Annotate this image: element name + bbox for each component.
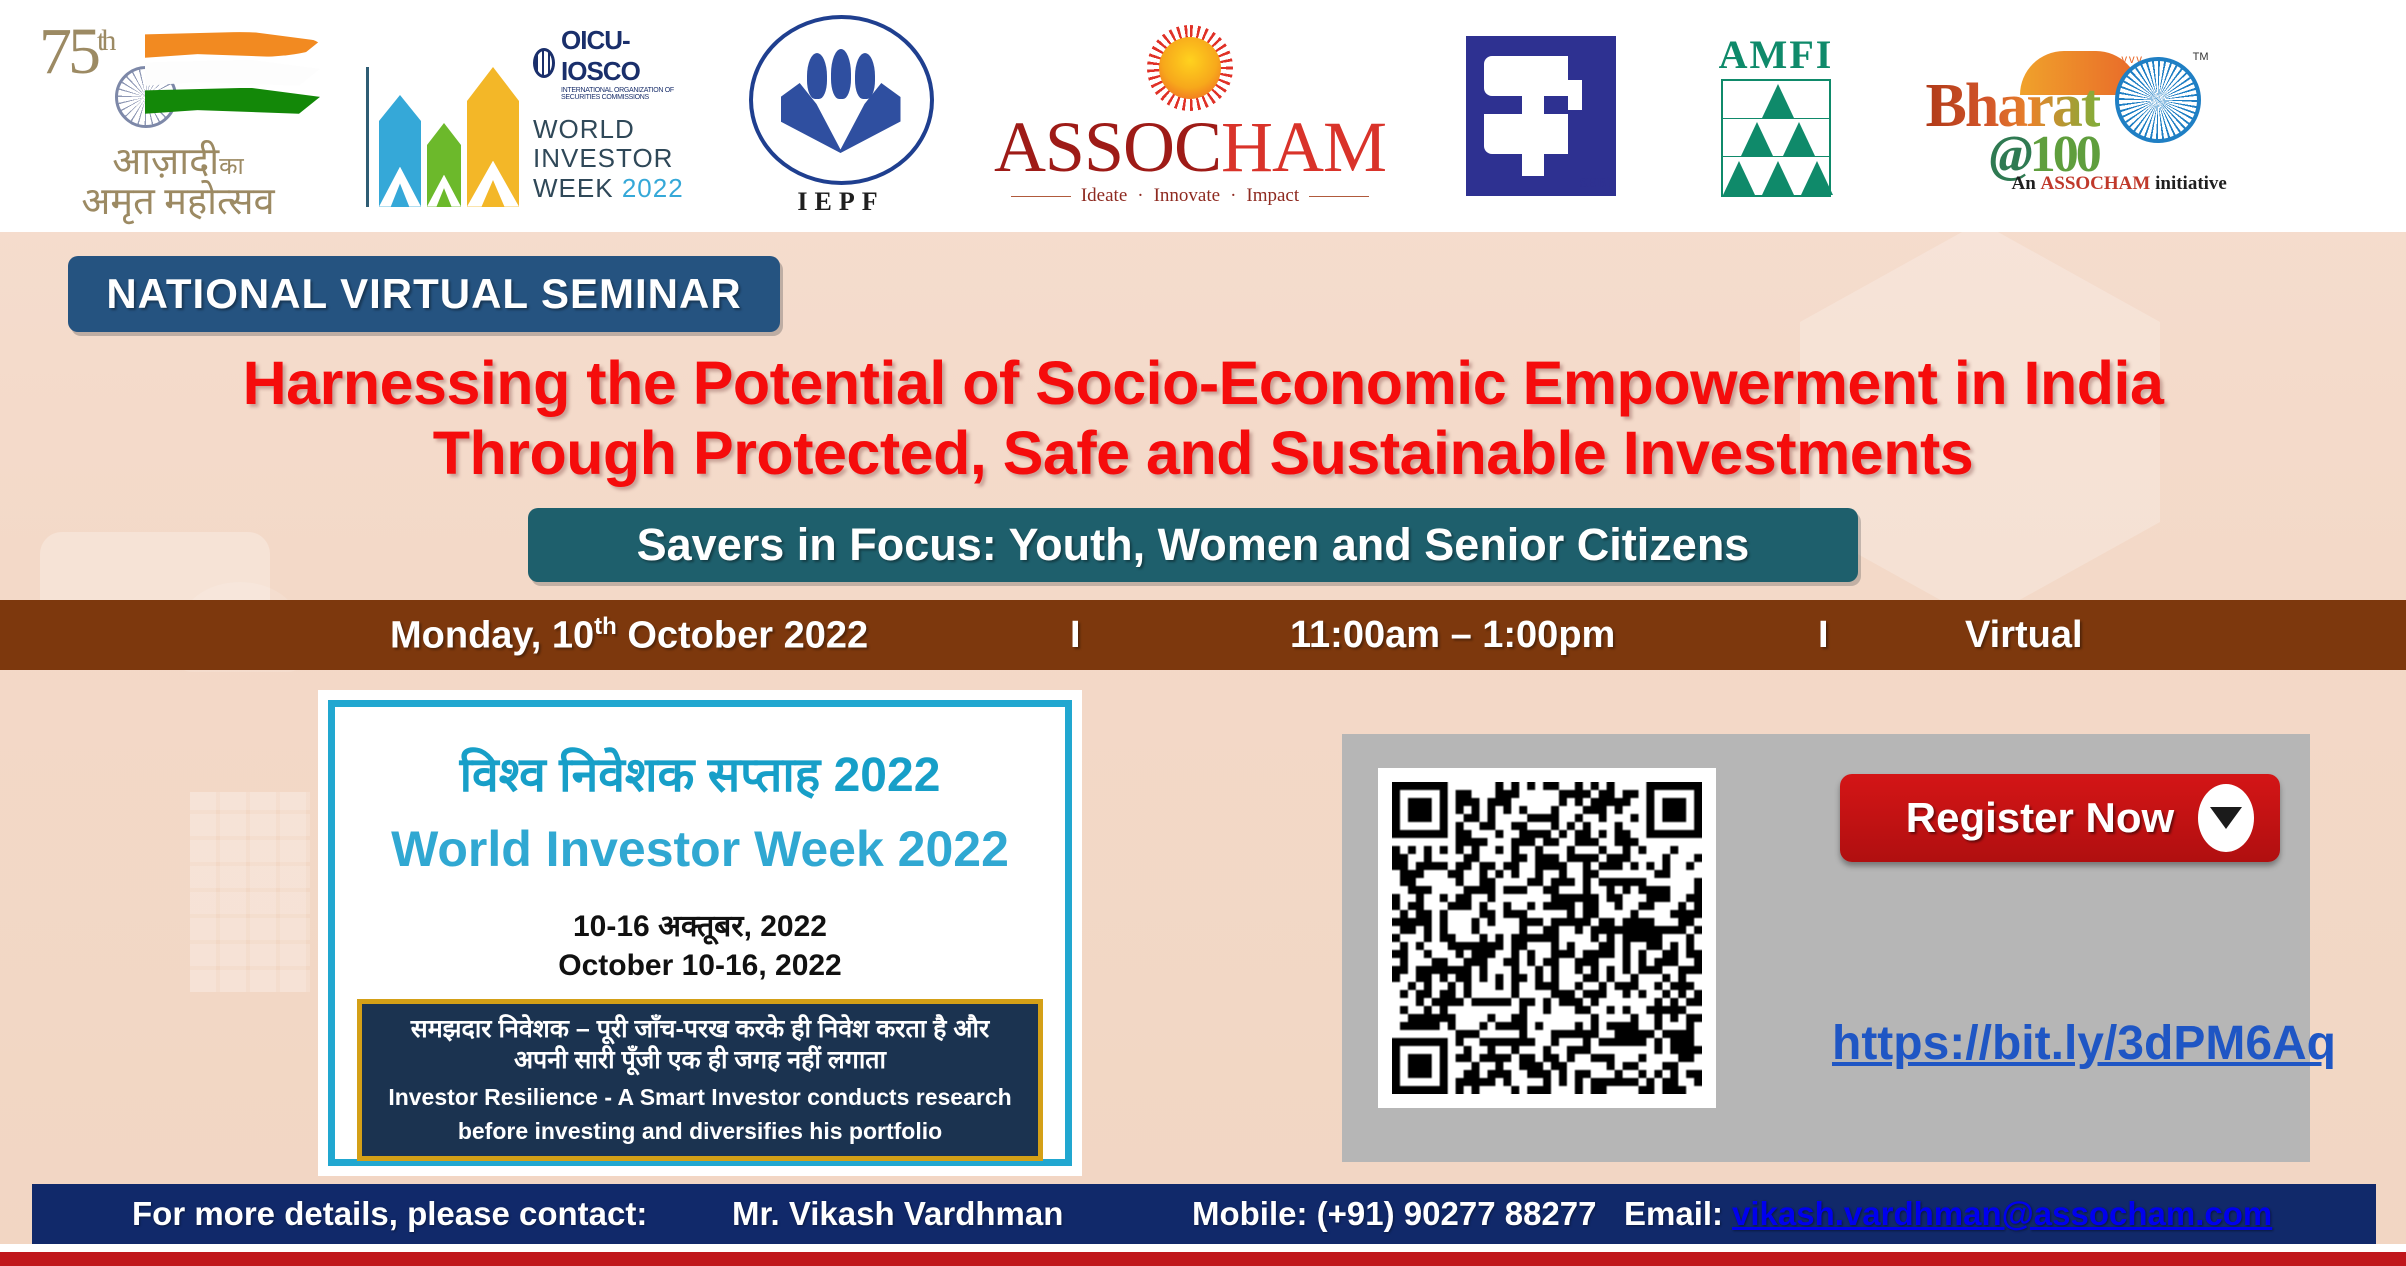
contact-person-name: Mr. Vikash Vardhman: [732, 1195, 1063, 1233]
wiw-wordmark: WORLD INVESTOR WEEK 2022: [533, 115, 696, 202]
tricolour-flag: [93, 24, 323, 144]
assocham-wordmark: ASSOCHAM: [994, 113, 1386, 181]
azadi-line1: आज़ादी: [112, 141, 219, 183]
people-icon: [807, 49, 875, 103]
azadi-line2: अमृत महोत्सव: [33, 182, 323, 222]
trademark-symbol: TM: [2193, 51, 2209, 63]
iepf-seal-icon: [749, 15, 934, 185]
wiw-line3: WEEK: [533, 173, 614, 203]
registration-panel: Register Now https://bit.ly/3dPM6Aq: [1342, 734, 2310, 1162]
seminar-type-badge: NATIONAL VIRTUAL SEMINAR: [68, 256, 780, 332]
initiative-brand: ASSOCHAM: [2041, 173, 2151, 194]
assocham-wordmark-b: HAM: [1221, 107, 1386, 187]
wiw-panel-title-hindi: विश्व निवेशक सप्ताह 2022: [460, 741, 941, 806]
globe-icon: [533, 48, 555, 78]
amfi-triangles-icon: [1721, 79, 1831, 197]
subtitle-bar: Savers in Focus: Youth, Women and Senior…: [528, 508, 1858, 582]
contact-email-label: Email:: [1624, 1195, 1723, 1233]
logo-azadi-ka-amrit-mahotsav: 75th आज़ादीका अमृत महोत्सव: [28, 16, 328, 216]
ashoka-chakra-blue-icon: [2115, 57, 2201, 143]
subtitle-text: Savers in Focus: Youth, Women and Senior…: [637, 519, 1750, 571]
numeral-value: 75: [39, 15, 97, 88]
logo-bharat-at-100: ᵥᵥᵥ Bharat @100 TM An ASSOCHAM initiativ…: [1916, 16, 2216, 216]
contact-footer: For more details, please contact: Mr. Vi…: [32, 1184, 2376, 1244]
wiw-line2: INVESTOR: [533, 144, 696, 173]
tagline-3: Impact: [1246, 185, 1299, 207]
sebi-letters: SEBi: [1580, 176, 1610, 192]
wiw-panel-dates-hindi: 10-16 अक्तूबर, 2022: [573, 904, 827, 945]
page-title: Harnessing the Potential of Socio-Econom…: [0, 348, 2406, 488]
oicu-iosco-mark: OICU-IOSCO INTERNATIONAL ORGANIZATION OF…: [533, 25, 696, 101]
tagline-1: Ideate: [1081, 185, 1127, 207]
azadi-line1-small: का: [219, 154, 244, 180]
qr-code-canvas[interactable]: [1392, 782, 1702, 1094]
qr-code[interactable]: [1378, 768, 1716, 1108]
event-date-prefix: Monday, 10: [390, 614, 594, 656]
logo-assocham: ASSOCHAM Ideate· Innovate· Impact: [990, 16, 1390, 216]
wiw-panel-title-english: World Investor Week 2022: [391, 820, 1009, 878]
assocham-wordmark-a: ASSOC: [994, 107, 1221, 187]
logo-iepf: IEPF: [736, 16, 946, 216]
logo-world-investor-week: OICU-IOSCO INTERNATIONAL ORGANIZATION OF…: [366, 16, 696, 216]
event-time: 11:00am – 1:00pm: [1290, 614, 1615, 657]
contact-label: For more details, please contact:: [132, 1195, 647, 1233]
oicu-subtitle: INTERNATIONAL ORGANIZATION OF SECURITIES…: [561, 87, 696, 101]
pencil-blue-icon: [379, 95, 421, 207]
grid-watermark: [190, 792, 310, 992]
separator-2: I: [1818, 614, 1829, 657]
logo-sebi: SEBi: [1446, 16, 1636, 216]
flag-stripe-saffron: [145, 32, 320, 58]
bharat-initiative-note: An ASSOCHAM initiative: [2012, 173, 2227, 195]
investor-resilience-quote: समझदार निवेशक – पूरी जाँच-परख करके ही नि…: [357, 999, 1043, 1161]
pencils-icon: [366, 67, 519, 207]
initiative-prefix: An: [2012, 173, 2041, 194]
title-line-2: Through Protected, Safe and Sustainable …: [0, 418, 2406, 488]
sun-icon: [1147, 25, 1233, 111]
initiative-suffix: initiative: [2150, 173, 2227, 194]
title-line-1: Harnessing the Potential of Socio-Econom…: [0, 348, 2406, 418]
tagline-2: Innovate: [1154, 185, 1220, 207]
register-now-label: Register Now: [1906, 794, 2174, 842]
register-now-button[interactable]: Register Now: [1840, 774, 2280, 862]
quote-english-line-1: Investor Resilience - A Smart Investor c…: [374, 1083, 1026, 1112]
hands-holding-coins-icon: [781, 49, 901, 153]
event-date: Monday, 10th October 2022: [390, 613, 868, 658]
amfi-wordmark: AMFI: [1719, 35, 1834, 75]
event-date-suffix: October 2022: [617, 614, 868, 656]
iepf-abbrev: IEPF: [749, 187, 934, 217]
separator-1: I: [1070, 614, 1081, 657]
logo-band: 75th आज़ादीका अमृत महोत्सव: [0, 0, 2406, 232]
event-date-ordinal: th: [594, 613, 617, 640]
logo-amfi: AMFI: [1686, 16, 1866, 216]
assocham-tagline: Ideate· Innovate· Impact: [994, 185, 1386, 207]
badge-label: NATIONAL VIRTUAL SEMINAR: [106, 270, 741, 318]
chevron-down-icon[interactable]: [2198, 784, 2254, 852]
footer-gap: [0, 1244, 2406, 1252]
registration-link[interactable]: https://bit.ly/3dPM6Aq: [1832, 1016, 2336, 1071]
bottom-rule: [0, 1252, 2406, 1266]
seminar-poster: 75th आज़ादीका अमृत महोत्सव: [0, 0, 2406, 1266]
oicu-title: OICU-IOSCO: [561, 25, 696, 87]
event-details-bar: Monday, 10th October 2022 I 11:00am – 1:…: [0, 600, 2406, 670]
quote-english-line-2: before investing and diversifies his por…: [374, 1117, 1026, 1146]
wiw-line1: WORLD: [533, 115, 696, 144]
contact-mobile[interactable]: Mobile: (+91) 90277 88277: [1192, 1195, 1596, 1233]
event-mode: Virtual: [1965, 614, 2083, 657]
pencil-green-icon: [427, 123, 461, 207]
flag-stripe-green: [145, 88, 320, 114]
indian-flag-icon: 75th: [33, 10, 323, 140]
wiw-year: 2022: [622, 173, 684, 203]
quote-hindi-line-2: अपनी सारी पूँजी एक ही जगह नहीं लगाता: [374, 1045, 1026, 1076]
contact-email-link[interactable]: vikash.vardhman@assocham.com: [1732, 1195, 2272, 1233]
world-investor-week-panel: विश्व निवेशक सप्ताह 2022 World Investor …: [318, 690, 1082, 1176]
azadi-hindi-wordmark: आज़ादीका अमृत महोत्सव: [33, 142, 323, 223]
quote-hindi-line-1: समझदार निवेशक – पूरी जाँच-परख करके ही नि…: [374, 1014, 1026, 1045]
flag-stripe-white: [145, 60, 320, 86]
pencil-yellow-icon: [467, 67, 519, 207]
wiw-panel-dates-english: October 10-16, 2022: [558, 949, 842, 983]
sebi-mark-icon: SEBi: [1466, 36, 1616, 196]
